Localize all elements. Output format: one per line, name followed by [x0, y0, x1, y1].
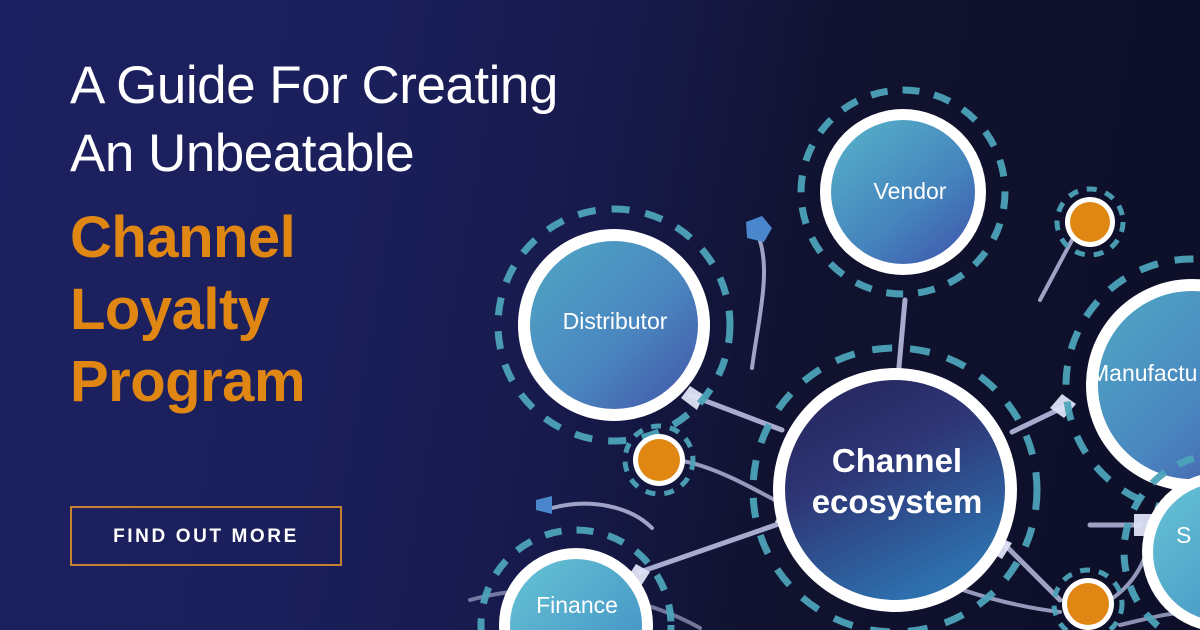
copy-block: A Guide For Creating An Unbeatable Chann… — [70, 52, 710, 418]
arrow-marker-top — [746, 216, 772, 242]
subheadline-line-2: Loyalty — [70, 274, 710, 346]
subheadline-line-3: Program — [70, 346, 710, 418]
accent-dot-top-right — [1057, 189, 1123, 255]
headline-line-1: A Guide For Creating — [70, 52, 710, 120]
accent-dot-bottom-right — [1054, 570, 1122, 630]
node-vendor — [801, 90, 1005, 294]
find-out-more-button[interactable]: FIND OUT MORE — [70, 506, 342, 566]
accent-dot-distributor — [625, 426, 693, 494]
headline-line-2: An Unbeatable — [70, 120, 710, 188]
subheadline-line-1: Channel — [70, 202, 710, 274]
arrow-marker-left — [536, 496, 552, 514]
subheadline: Channel Loyalty Program — [70, 202, 710, 418]
node-manufacturer — [1066, 259, 1200, 511]
node-center — [753, 348, 1037, 630]
promo-banner: Vendor Distributor Manufactu Finance S C… — [0, 0, 1200, 630]
headline: A Guide For Creating An Unbeatable — [70, 52, 710, 188]
